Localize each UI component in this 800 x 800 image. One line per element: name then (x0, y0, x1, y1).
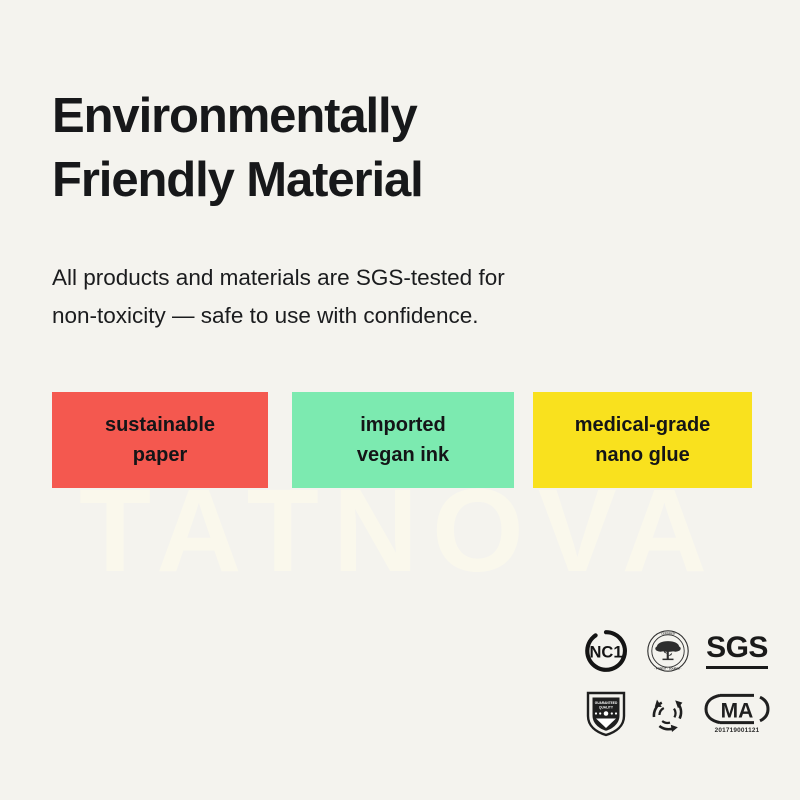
sgs-underline (706, 666, 768, 669)
headline-line-1: Environmentally (52, 85, 712, 149)
svg-text:QUALITY: QUALITY (599, 706, 614, 710)
badge-medical-grade-nano-glue: medical-grade nano glue (533, 392, 752, 488)
shield-chevron-icon: GUARANTEED QUALITY (575, 682, 637, 744)
badge-label-line-1: sustainable (105, 410, 215, 440)
badge-imported-vegan-ink: imported vegan ink (292, 392, 514, 488)
badge-sustainable-paper: sustainable paper (52, 392, 268, 488)
tree-seal-icon: · CERTIFIED · · FOREST · SOURCE · (637, 620, 699, 682)
page-title: Environmentally Friendly Material (52, 85, 712, 212)
nc1-circle-icon: NC1 (575, 620, 637, 682)
recycle-arrows-icon (637, 682, 699, 744)
svg-text:GUARANTEED: GUARANTEED (595, 701, 618, 705)
body-line-1: All products and materials are SGS-teste… (52, 259, 672, 298)
svg-text:· CERTIFIED ·: · CERTIFIED · (660, 632, 677, 636)
badge-label-line-2: vegan ink (357, 440, 449, 470)
sgs-logo-icon: SGS (699, 620, 775, 682)
cma-logo-icon: MA 201719001121 (699, 682, 775, 744)
badge-label-line-2: nano glue (595, 440, 689, 470)
material-badge-group: sustainable paper imported vegan ink med… (52, 392, 752, 488)
badge-label-line-1: medical-grade (575, 410, 711, 440)
certification-logo-group: NC1 · CERTIFIED · · FOREST · (575, 620, 775, 744)
headline-line-2: Friendly Material (52, 149, 712, 213)
brand-watermark: TATNOVA (0, 472, 800, 590)
poster-canvas: TATNOVA Environmentally Friendly Materia… (0, 0, 800, 800)
svg-text:MA: MA (721, 699, 754, 722)
body-description: All products and materials are SGS-teste… (52, 259, 672, 336)
cma-certificate-number: 201719001121 (715, 727, 760, 734)
badge-label-line-2: paper (133, 440, 187, 470)
svg-text:NC1: NC1 (589, 644, 622, 662)
sgs-label: SGS (706, 633, 768, 663)
body-line-2: non-toxicity — safe to use with confiden… (52, 297, 672, 336)
svg-text:· FOREST · SOURCE ·: · FOREST · SOURCE · (654, 666, 681, 670)
badge-label-line-1: imported (360, 410, 446, 440)
